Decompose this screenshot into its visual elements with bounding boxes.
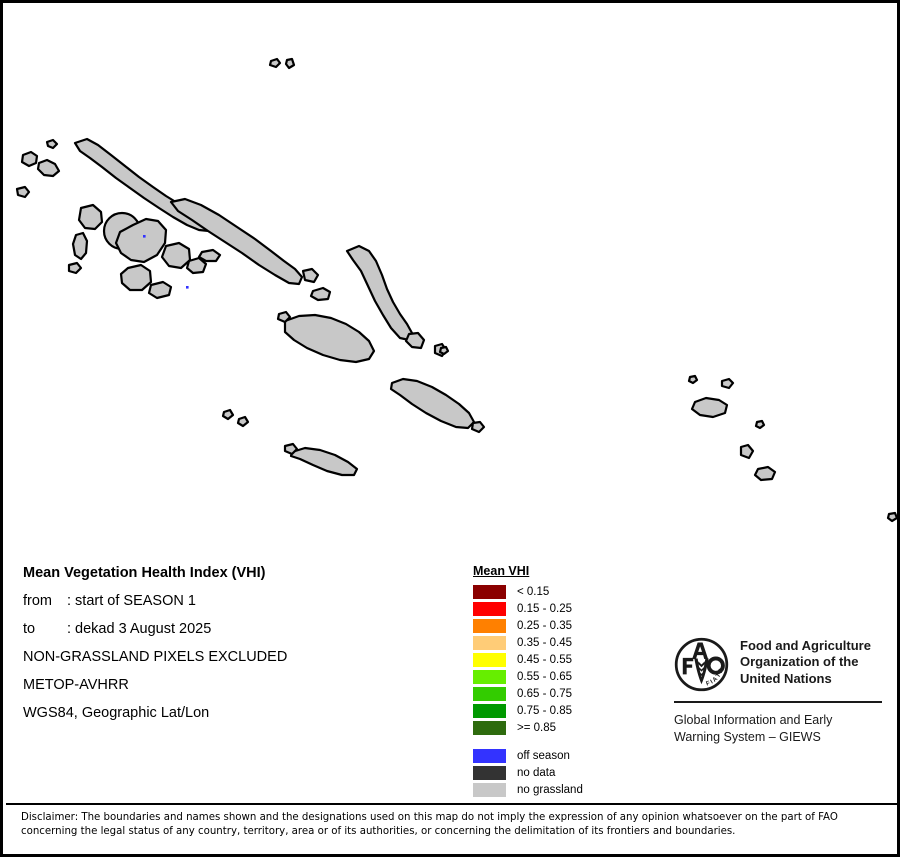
legend-class-label: 0.65 - 0.75: [517, 688, 572, 700]
info-heading: Mean Vegetation Health Index (VHI): [23, 565, 453, 581]
legend-special-list: off seasonno datano grassland: [473, 747, 633, 798]
island-vella-lavella: [79, 205, 102, 229]
fao-logo-icon: F I A T P A N I S: [674, 637, 729, 692]
disclaimer-text: Disclaimer: The boundaries and names sho…: [21, 811, 891, 840]
info-row-to: to : dekad 3 August 2025: [23, 621, 453, 637]
disclaimer-line-2: concerning the legal status of any count…: [21, 825, 891, 839]
legend-class-label: 0.75 - 0.85: [517, 705, 572, 717]
legend-class-row: >= 0.85: [473, 719, 633, 736]
legend-special-row: no grassland: [473, 781, 633, 798]
legend-class-list: < 0.150.15 - 0.250.25 - 0.350.35 - 0.450…: [473, 583, 633, 736]
fao-header: F I A T P A N I S Food and Agriculture O…: [674, 637, 889, 692]
island-tikopia: [888, 513, 897, 521]
info-from-label: from: [23, 593, 67, 609]
island-fragment-e: [756, 421, 764, 428]
giews-name: Global Information and Early Warning Sys…: [674, 712, 889, 746]
disclaimer-divider: [6, 803, 900, 805]
island-rendova: [121, 265, 151, 290]
legend-class-swatch: [473, 653, 506, 667]
legend-class-swatch: [473, 721, 506, 735]
legend-special-label: no data: [517, 767, 555, 779]
legend-class-label: 0.25 - 0.35: [517, 620, 572, 632]
island-russell: [199, 250, 220, 261]
legend-class-row: 0.35 - 0.45: [473, 634, 633, 651]
legend-special-swatch: [473, 766, 506, 780]
info-row-from: from : start of SEASON 1: [23, 593, 453, 609]
legend-class-label: < 0.15: [517, 586, 549, 598]
info-line-projection: WGS84, Geographic Lat/Lon: [23, 705, 453, 721]
island-fragment-d: [689, 376, 697, 383]
island-shortland: [22, 152, 37, 166]
legend-class-row: < 0.15: [473, 583, 633, 600]
fao-divider: [674, 701, 882, 703]
legend-class-label: 0.45 - 0.55: [517, 654, 572, 666]
legend-class-row: 0.15 - 0.25: [473, 600, 633, 617]
info-line-exclusion: NON-GRASSLAND PIXELS EXCLUDED: [23, 649, 453, 665]
info-line-sensor: METOP-AVHRR: [23, 677, 453, 693]
island-duff: [722, 379, 733, 388]
island-tetepare: [149, 282, 171, 298]
map-info-block: Mean Vegetation Health Index (VHI) from …: [23, 565, 453, 733]
legend-class-swatch: [473, 687, 506, 701]
island-stirling: [47, 140, 57, 148]
island-nggela: [311, 288, 330, 300]
legend-special-swatch: [473, 783, 506, 797]
legend-class-swatch: [473, 704, 506, 718]
fao-branding: F I A T P A N I S Food and Agriculture O…: [674, 637, 889, 746]
island-nendo: [692, 398, 727, 417]
legend-spacer: [473, 736, 633, 747]
fao-organization-name: Food and Agriculture Organization of the…: [740, 637, 871, 687]
legend: Mean VHI < 0.150.15 - 0.250.25 - 0.350.3…: [473, 562, 633, 798]
legend-class-row: 0.45 - 0.55: [473, 651, 633, 668]
legend-special-label: off season: [517, 750, 570, 762]
legend-class-swatch: [473, 636, 506, 650]
legend-class-row: 0.65 - 0.75: [473, 685, 633, 702]
legend-class-row: 0.55 - 0.65: [473, 668, 633, 685]
legend-special-swatch: [473, 749, 506, 763]
map-page: Solomon Islands: [0, 0, 900, 857]
disclaimer-line-1: Disclaimer: The boundaries and names sho…: [21, 811, 891, 825]
legend-class-swatch: [473, 602, 506, 616]
fao-name-line-1: Food and Agriculture: [740, 638, 871, 654]
map-canvas[interactable]: [3, 3, 897, 543]
legend-class-swatch: [473, 670, 506, 684]
fao-name-line-2: Organization of the: [740, 654, 871, 670]
legend-class-label: >= 0.85: [517, 722, 556, 734]
island-ontong-java: [270, 59, 280, 67]
info-from-value: : start of SEASON 1: [67, 593, 196, 609]
legend-class-row: 0.25 - 0.35: [473, 617, 633, 634]
legend-special-row: no data: [473, 764, 633, 781]
legend-class-label: 0.55 - 0.65: [517, 671, 572, 683]
island-ranongga: [73, 233, 87, 259]
legend-class-row: 0.75 - 0.85: [473, 702, 633, 719]
info-to-value: : dekad 3 August 2025: [67, 621, 211, 637]
legend-special-row: off season: [473, 747, 633, 764]
legend-class-label: 0.35 - 0.45: [517, 637, 572, 649]
island-north-fragment: [286, 59, 294, 68]
island-fragment-c: [440, 347, 448, 354]
legend-class-label: 0.15 - 0.25: [517, 603, 572, 615]
island-fauro: [17, 187, 29, 197]
map-svg: [3, 3, 897, 543]
giews-line-2: Warning System – GIEWS: [674, 729, 889, 746]
info-to-label: to: [23, 621, 67, 637]
legend-title: Mean VHI: [473, 564, 529, 578]
fao-name-line-3: United Nations: [740, 671, 871, 687]
giews-line-1: Global Information and Early: [674, 712, 889, 729]
legend-special-label: no grassland: [517, 784, 583, 796]
legend-class-swatch: [473, 585, 506, 599]
legend-class-swatch: [473, 619, 506, 633]
island-vanikoro: [755, 467, 775, 480]
